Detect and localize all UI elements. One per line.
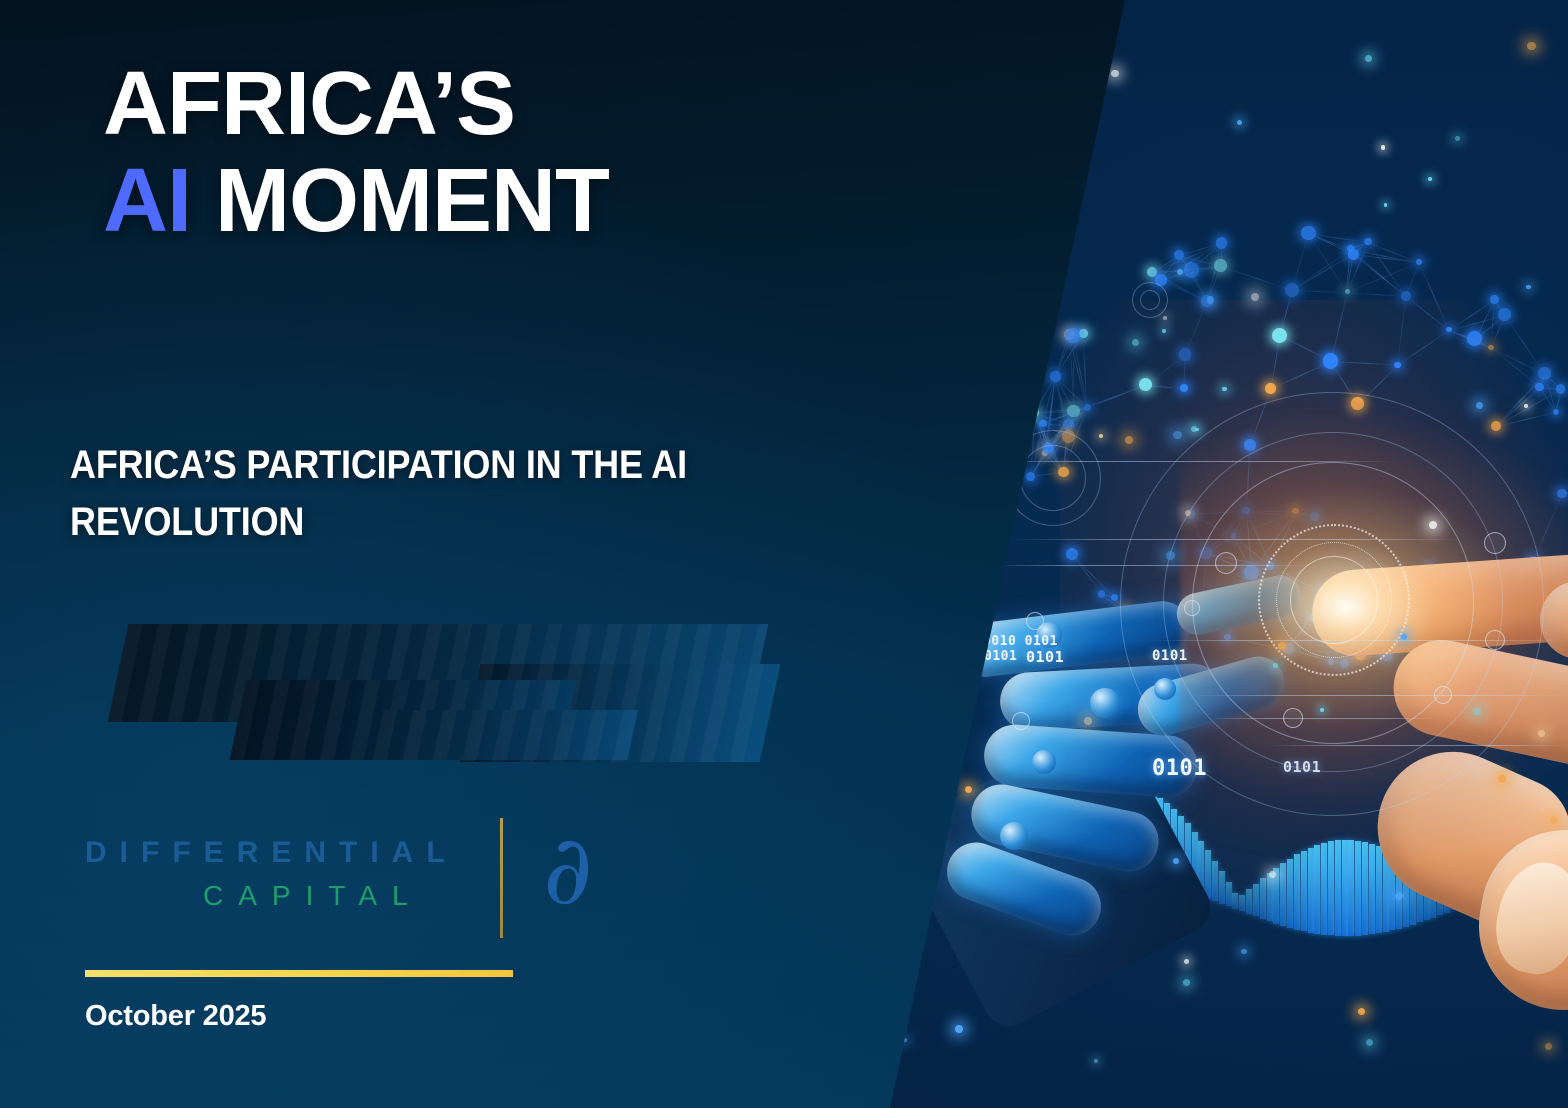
logo-submark: CAPITAL: [203, 880, 423, 912]
headline-line-2: AI MOMENT: [103, 153, 609, 250]
brand-logo[interactable]: DIFFERENTIAL CAPITAL ∂: [85, 828, 625, 948]
partial-derivative-icon: ∂: [543, 822, 593, 918]
page-title: AFRICA’S AI MOMENT: [103, 56, 609, 250]
title-slide: 0010 0101 0101 0101 0101 0101 0101 AFRIC…: [0, 0, 1568, 1108]
slide-content: AFRICA’S AI MOMENT AFRICA’S PARTICIPATIO…: [0, 0, 1568, 1108]
page-subtitle: AFRICA’S PARTICIPATION IN THE AI REVOLUT…: [70, 437, 862, 551]
slide-date: October 2025: [85, 1000, 266, 1033]
logo-divider: [500, 818, 503, 938]
headline-line-2-rest: MOMENT: [191, 151, 609, 251]
date-accent-rule: [85, 970, 513, 977]
headline-line-1: AFRICA’S: [103, 54, 515, 154]
logo-wordmark: DIFFERENTIAL: [85, 836, 458, 870]
headline-accent-ai: AI: [103, 151, 191, 251]
